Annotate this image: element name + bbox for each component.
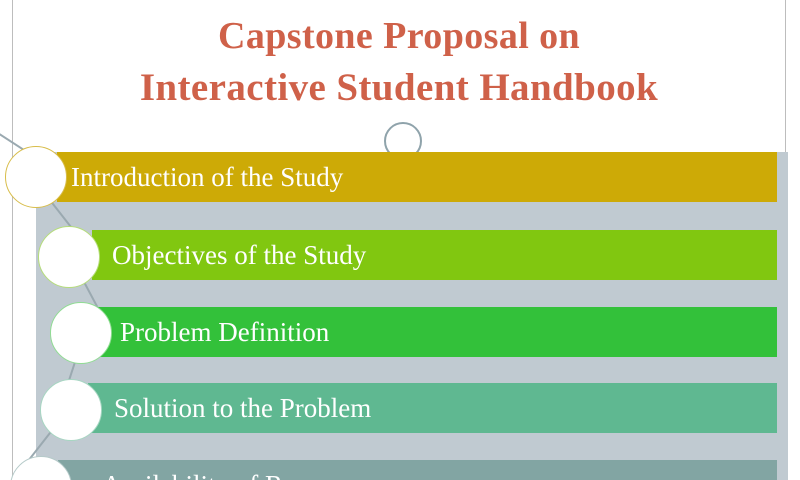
agenda-item-label: Objectives of the Study (112, 240, 366, 270)
agenda-bullet-knob-1[interactable] (5, 146, 67, 208)
agenda-item-label: Problem Definition (120, 317, 329, 347)
page-title-line-1: Capstone Proposal on (13, 10, 785, 62)
agenda-bullet-knob-2[interactable] (38, 226, 100, 288)
page-title: Capstone Proposal on Interactive Student… (13, 10, 785, 114)
agenda-item-introduction[interactable]: Introduction of the Study (57, 152, 777, 202)
agenda-item-label: Introduction of the Study (71, 162, 343, 192)
agenda-item-objectives[interactable]: Objectives of the Study (92, 230, 777, 280)
agenda-bullet-knob-4[interactable] (40, 379, 102, 441)
agenda-bullet-knob-3[interactable] (50, 302, 112, 364)
slide-canvas: Capstone Proposal on Interactive Student… (0, 0, 800, 480)
agenda-item-problem-definition[interactable]: Problem Definition (98, 307, 777, 357)
page-title-line-2: Interactive Student Handbook (13, 62, 785, 114)
agenda-item-label: Solution to the Problem (114, 393, 371, 423)
agenda-item-label: Availability of Resources (102, 470, 376, 480)
agenda-item-solution[interactable]: Solution to the Problem (88, 383, 777, 433)
agenda-item-availability-of-resources[interactable]: Availability of Resources (58, 460, 777, 480)
